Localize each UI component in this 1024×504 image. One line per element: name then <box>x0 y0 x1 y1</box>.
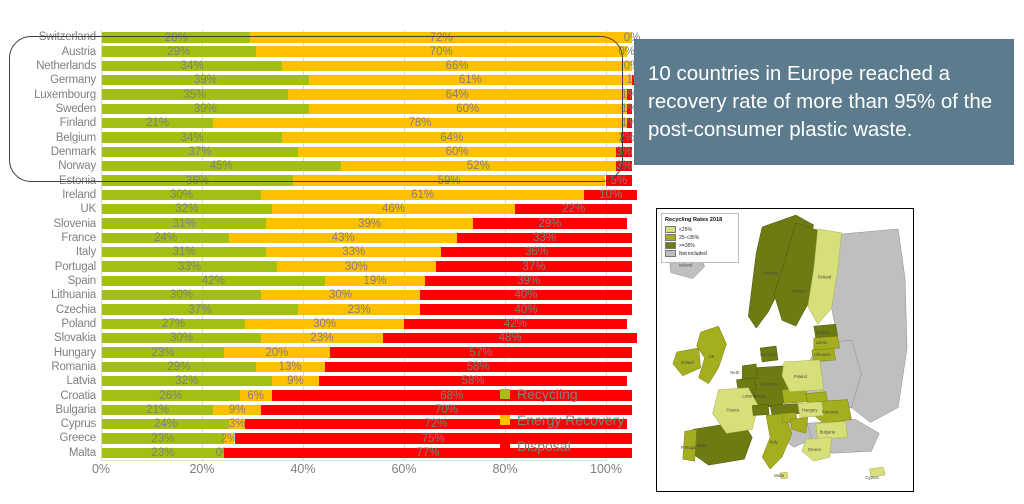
bar-segment-value-label: 3% <box>616 159 633 173</box>
bar-segment-value-label: 68% <box>440 389 463 403</box>
bar-segment-value-label: 30% <box>170 331 193 345</box>
x-axis-ticks: 0%20%40%60%80%100% <box>0 462 632 486</box>
legend-item-recycling: Recycling <box>500 381 635 407</box>
bar-segment-value-label: 22% <box>562 202 585 216</box>
bar-row: Germany39%61%1% <box>0 73 632 88</box>
bar-track: 31%39%29% <box>102 218 632 229</box>
bar-row-category-label: Bulgaria <box>0 404 102 416</box>
bar-segment-value-label: 72% <box>430 31 453 45</box>
bar-track: 45%52%3% <box>102 161 632 172</box>
bar-track: 28%72%0% <box>102 32 632 43</box>
bar-segment-value-label: 39% <box>517 274 540 288</box>
map-label-latvia: Latvia <box>816 340 828 345</box>
legend-swatch-disposal <box>500 441 510 451</box>
map-label-france: France <box>726 408 740 413</box>
legend-item-energy-recovery: Energy Recovery <box>500 407 635 433</box>
bar-track: 37%23%40% <box>102 304 632 315</box>
bar-row: Belgium34%64%2% <box>0 130 632 145</box>
bar-segment-value-label: 30% <box>329 288 352 302</box>
bar-segment-value-label: 10% <box>599 188 622 202</box>
bar-segment-value-label: 3% <box>229 417 246 431</box>
bar-segment-value-label: 27% <box>162 317 185 331</box>
bar-row: UK32%46%22% <box>0 202 632 217</box>
map-label-netherlands: Neth. <box>730 370 740 375</box>
bar-segment-value-label: 58% <box>467 360 490 374</box>
bar-row-category-label: Spain <box>0 275 102 287</box>
map-label-poland: Poland <box>794 374 808 379</box>
bar-segment-value-label: 9% <box>287 374 304 388</box>
bar-segment-value-label: 48% <box>499 331 522 345</box>
map-label-malta: Malta <box>774 473 785 478</box>
x-tick-label: 60% <box>391 462 416 476</box>
bar-segment-value-label: 33% <box>342 245 365 259</box>
bar-segment-value-label: 70% <box>430 45 453 59</box>
bar-segment-value-label: 34% <box>181 131 204 145</box>
bar-row-category-label: Poland <box>0 318 102 330</box>
bar-row-category-label: Cyprus <box>0 418 102 430</box>
bar-segment-value-label: 31% <box>173 217 196 231</box>
bar-segment-value-label: 23% <box>151 446 174 460</box>
callout-text: 10 countries in Europe reached a recover… <box>648 60 1000 144</box>
callout-box: 10 countries in Europe reached a recover… <box>634 39 1014 165</box>
bar-segment-value-label: 37% <box>189 145 212 159</box>
bar-segment-value-label: 70% <box>435 403 458 417</box>
bar-segment-value-label: 45% <box>210 159 233 173</box>
map-legend-label-3: Not included <box>679 251 707 257</box>
map-label-finland: Finland <box>818 275 832 280</box>
map-label-denmark: Denmark <box>760 352 778 357</box>
bar-segment-value-label: 59% <box>438 174 461 188</box>
bar-segment-value-label: 33% <box>533 231 556 245</box>
bar-segment-value-label: 58% <box>461 374 484 388</box>
bar-track: 30%23%48% <box>102 333 632 344</box>
bar-segment-value-label: 24% <box>154 417 177 431</box>
bar-segment-value-label: 13% <box>279 360 302 374</box>
map-legend-swatch-0 <box>665 226 676 234</box>
legend-label-energy-recovery: Energy Recovery <box>517 412 624 428</box>
bar-row: Ireland30%61%10% <box>0 188 632 203</box>
x-tick-label: 80% <box>492 462 517 476</box>
bar-track: 39%61%1% <box>102 75 632 86</box>
map-legend-label-1: 25-<35% <box>679 235 699 241</box>
map-label-portugal: Portugal <box>681 445 697 450</box>
bar-row-category-label: Hungary <box>0 347 102 359</box>
bar-row-category-label: Ireland <box>0 189 102 201</box>
bar-row-category-label: Malta <box>0 447 102 459</box>
bar-segment-value-label: 64% <box>446 88 469 102</box>
bar-segment-value-label: 42% <box>504 317 527 331</box>
chart-panel: Switzerland28%72%0%Austria29%70%0%Nether… <box>0 0 632 504</box>
bar-row: Romania29%13%58% <box>0 360 632 375</box>
bar-segment-value-label: 33% <box>178 260 201 274</box>
bar-row: Switzerland28%72%0% <box>0 30 632 45</box>
map-label-estonia: Estonia <box>816 330 831 335</box>
bar-row: France24%43%33% <box>0 231 632 246</box>
map-legend-label-2: >=35% <box>679 243 695 249</box>
bar-row: Denmark37%60%3% <box>0 145 632 160</box>
bar-row-category-label: Latvia <box>0 375 102 387</box>
bar-track: 30%61%10% <box>102 190 632 201</box>
bar-segment-value-label: 21% <box>146 116 169 130</box>
bar-row: Italy31%33%36% <box>0 245 632 260</box>
bar-track: 32%46%22% <box>102 204 632 215</box>
legend-label-disposal: Disposal <box>517 438 571 454</box>
map-label-sweden: Sweden <box>792 288 808 293</box>
bar-segment-value-label: 28% <box>165 31 188 45</box>
bar-segment-value-label: 26% <box>159 389 182 403</box>
bar-segment-value-label: 30% <box>313 317 336 331</box>
x-tick-label: 100% <box>590 462 622 476</box>
bar-row-category-label: Germany <box>0 74 102 86</box>
bar-segment-value-label: 0% <box>618 45 635 59</box>
bar-segment-value-label: 66% <box>446 59 469 73</box>
bar-track: 27%30%42% <box>102 319 632 330</box>
bar-segment-value-label: 36% <box>525 245 548 259</box>
bar-segment-value-label: 30% <box>345 260 368 274</box>
bar-segment-value-label: 43% <box>332 231 355 245</box>
bar-track: 29%13%58% <box>102 362 632 373</box>
bar-row: Czechia37%23%40% <box>0 302 632 317</box>
bar-segment-value-label: 61% <box>411 188 434 202</box>
bar-segment-value-label: 37% <box>522 260 545 274</box>
bar-segment-value-label: 20% <box>265 346 288 360</box>
map-legend-label-0: <25% <box>679 227 692 233</box>
bar-track: 30%30%40% <box>102 290 632 301</box>
chart-legend: Recycling Energy Recovery Disposal <box>500 381 635 459</box>
bar-row: Portugal33%30%37% <box>0 259 632 274</box>
map-legend-swatch-2 <box>665 242 676 250</box>
bar-row-category-label: Portugal <box>0 261 102 273</box>
bar-segment-value-label: 40% <box>514 288 537 302</box>
bar-row: Netherlands34%66%0% <box>0 59 632 74</box>
bar-segment-value-label: 52% <box>467 159 490 173</box>
bar-segment-value-label: 42% <box>202 274 225 288</box>
bar-row: Spain42%19%39% <box>0 274 632 289</box>
bar-row-category-label: Slovenia <box>0 218 102 230</box>
bar-track: 36%59%5% <box>102 175 632 186</box>
bar-row-category-label: Belgium <box>0 132 102 144</box>
bar-row: Estonia36%59%5% <box>0 173 632 188</box>
x-tick-label: 0% <box>92 462 110 476</box>
legend-item-disposal: Disposal <box>500 433 635 459</box>
bar-segment-value-label: 40% <box>514 303 537 317</box>
bar-row: Slovakia30%23%48% <box>0 331 632 346</box>
bar-row: Slovenia31%39%29% <box>0 216 632 231</box>
legend-swatch-recycling <box>500 389 510 399</box>
bar-segment-value-label: 35% <box>183 88 206 102</box>
bar-row-category-label: Romania <box>0 361 102 373</box>
bar-segment-value-label: 61% <box>459 73 482 87</box>
bar-segment-value-label: 60% <box>456 102 479 116</box>
country-switzerland <box>752 405 769 416</box>
bar-row-category-label: Croatia <box>0 390 102 402</box>
bar-segment-value-label: 5% <box>610 174 627 188</box>
europe-recycling-map: Iceland Norway Sweden Finland UK Ireland… <box>656 208 914 492</box>
bar-segment-value-label: 64% <box>440 131 463 145</box>
map-label-romania: Romania <box>822 410 839 415</box>
bar-row-category-label: Finland <box>0 117 102 129</box>
bar-row-category-label: Denmark <box>0 146 102 158</box>
map-legend-item-1: 25-<35% <box>665 234 735 241</box>
bar-track: 35%64%1% <box>102 89 632 100</box>
bar-segment-value-label: 39% <box>194 102 217 116</box>
bar-segment-value-label: 72% <box>424 417 447 431</box>
map-label-bulgaria: Bulgaria <box>820 429 836 434</box>
map-legend: Recycling Rates 2018 <25% 25-<35% >=35% … <box>661 213 739 263</box>
bar-row-category-label: France <box>0 232 102 244</box>
bar-track: 33%30%37% <box>102 261 632 272</box>
bar-segment-value-label: 57% <box>469 346 492 360</box>
bar-track: 37%60%3% <box>102 147 632 158</box>
bar-segment-value-label: 60% <box>446 145 469 159</box>
bar-segment-value-label: 77% <box>416 446 439 460</box>
bar-segment-value-label: 36% <box>186 174 209 188</box>
bar-segment-value-label: 23% <box>151 432 174 446</box>
bar-segment-value-label: 23% <box>348 303 371 317</box>
x-tick-label: 40% <box>290 462 315 476</box>
bar-segment-value-label: 78% <box>408 116 431 130</box>
map-label-italy: Italy <box>770 439 779 444</box>
map-label-iceland: Iceland <box>679 263 693 268</box>
bar-row-category-label: UK <box>0 203 102 215</box>
bar-track: 34%64%2% <box>102 132 632 143</box>
bar-segment-value-label: 29% <box>538 217 561 231</box>
bar-row-category-label: Netherlands <box>0 60 102 72</box>
bar-row-category-label: Lithuania <box>0 289 102 301</box>
bar-track: 29%70%0% <box>102 46 632 57</box>
bar-segment-value-label: 39% <box>358 217 381 231</box>
bar-row: Austria29%70%0% <box>0 44 632 59</box>
map-label-cyprus: Cyprus <box>865 475 878 480</box>
bar-segment-value-label: 24% <box>154 231 177 245</box>
bar-segment-value-label: 6% <box>247 389 264 403</box>
bar-segment-value-label: 30% <box>170 188 193 202</box>
bar-segment-value-label: 30% <box>170 288 193 302</box>
bar-segment-value-label: 34% <box>181 59 204 73</box>
map-legend-swatch-1 <box>665 234 676 242</box>
x-tick-label: 20% <box>189 462 214 476</box>
bar-row-category-label: Italy <box>0 246 102 258</box>
map-legend-title: Recycling Rates 2018 <box>665 217 735 224</box>
bar-track: 23%20%57% <box>102 347 632 358</box>
bar-row: Hungary23%20%57% <box>0 345 632 360</box>
bar-row: Luxembourg35%64%1% <box>0 87 632 102</box>
bar-row-category-label: Slovakia <box>0 332 102 344</box>
map-legend-item-2: >=35% <box>665 242 735 249</box>
bar-segment-value-label: 23% <box>151 346 174 360</box>
map-legend-swatch-3 <box>665 250 676 258</box>
bar-segment-value-label: 39% <box>194 73 217 87</box>
bar-row: Sweden39%60%1% <box>0 102 632 117</box>
map-label-luxembourg: Luxembourg <box>742 394 766 399</box>
map-label-germany: Germany <box>760 382 778 387</box>
legend-swatch-energy-recovery <box>500 415 510 425</box>
bar-row-category-label: Czechia <box>0 304 102 316</box>
map-label-greece: Greece <box>808 447 822 452</box>
map-label-norway: Norway <box>764 271 779 276</box>
bar-row-category-label: Switzerland <box>0 31 102 43</box>
map-label-uk: UK <box>709 354 715 359</box>
map-label-lithuania: Lithuania <box>814 352 832 357</box>
map-legend-item-0: <25% <box>665 226 735 233</box>
legend-label-recycling: Recycling <box>517 386 578 402</box>
bar-track: 24%43%33% <box>102 233 632 244</box>
bar-segment-value-label: 32% <box>175 202 198 216</box>
map-label-spain: Spain <box>697 443 708 448</box>
bar-segment-value-label: 46% <box>382 202 405 216</box>
bar-segment-value-label: 3% <box>616 145 633 159</box>
map-label-ireland: Ireland <box>681 360 694 365</box>
bar-track: 42%19%39% <box>102 276 632 287</box>
bar-segment-value-label: 19% <box>363 274 386 288</box>
bar-row: Norway45%52%3% <box>0 159 632 174</box>
bar-segment-value-label: 23% <box>310 331 333 345</box>
bar-row: Poland27%30%42% <box>0 317 632 332</box>
map-legend-item-3: Not included <box>665 250 735 257</box>
bar-row: Lithuania30%30%40% <box>0 288 632 303</box>
bar-segment-value-label: 21% <box>146 403 169 417</box>
bar-segment-value-label: 29% <box>167 360 190 374</box>
bar-row-category-label: Estonia <box>0 175 102 187</box>
bar-track: 34%66%0% <box>102 61 632 72</box>
country-netherlands <box>742 364 757 380</box>
bar-track: 39%60%1% <box>102 104 632 115</box>
map-label-hungary: Hungary <box>802 408 819 413</box>
bar-segment-value-label: 75% <box>422 432 445 446</box>
bar-row-category-label: Austria <box>0 46 102 58</box>
bar-row-category-label: Norway <box>0 160 102 172</box>
bar-row-category-label: Greece <box>0 432 102 444</box>
bar-segment-value-label: 29% <box>167 45 190 59</box>
bar-segment-value-label: 2% <box>618 131 635 145</box>
bar-row-category-label: Luxembourg <box>0 89 102 101</box>
bar-row: Finland21%78%1% <box>0 116 632 131</box>
bar-segment-value-label: 31% <box>173 245 196 259</box>
bar-track: 21%78%1% <box>102 118 632 129</box>
bar-track: 31%33%36% <box>102 247 632 258</box>
bar-row-category-label: Sweden <box>0 103 102 115</box>
bar-segment-value-label: 9% <box>229 403 246 417</box>
bar-segment-value-label: 32% <box>175 374 198 388</box>
bar-segment-value-label: 37% <box>189 303 212 317</box>
